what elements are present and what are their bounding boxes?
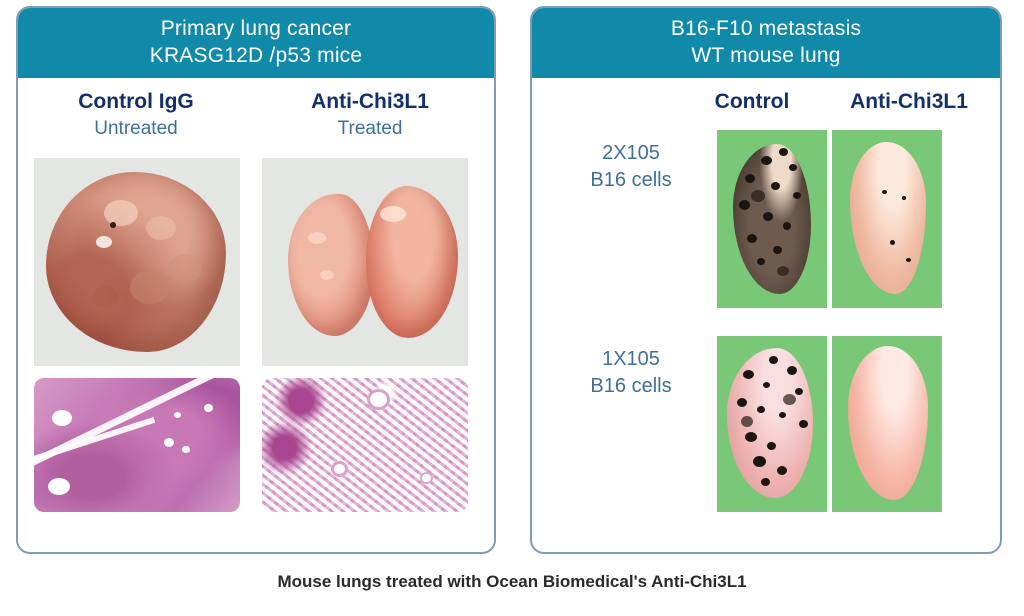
metastasis-nodule (741, 416, 753, 427)
gross-lung-untreated-photo (34, 158, 240, 366)
metastasis-nodule (799, 420, 808, 428)
b16-lung-treated-low-dose (848, 346, 928, 500)
metastasis-nodule (902, 196, 906, 200)
row-label-low-dose: 1X105 B16 cells (556, 346, 706, 400)
tumor-nodule (146, 216, 176, 240)
metastasis-nodule (777, 266, 789, 276)
left-panel-header: Primary lung cancer KRASG12D /p53 mice (18, 8, 494, 78)
airway-lumen (204, 404, 213, 412)
metastasis-nodule (757, 258, 765, 265)
metastasis-nodule (743, 370, 754, 379)
tumor-nodule (130, 270, 170, 304)
airway-lumen (52, 410, 72, 426)
left-header-line-2: KRASG12D /p53 mice (24, 42, 488, 69)
gross-lung-treated-photo (262, 158, 468, 366)
figure-caption: Mouse lungs treated with Ocean Biomedica… (0, 572, 1024, 592)
panel-b16-metastasis: B16-F10 metastasis WT mouse lung Control… (530, 6, 1002, 554)
right-col2-title: Anti-Chi3L1 (824, 90, 994, 114)
panel-primary-lung-cancer: Primary lung cancer KRASG12D /p53 mice C… (16, 6, 496, 554)
metastasis-nodule (747, 234, 757, 243)
airway-lumen (174, 412, 181, 418)
metastasis-nodule (763, 382, 770, 388)
metastasis-nodule (739, 200, 750, 210)
left-col1-title: Control IgG (26, 90, 246, 114)
right-col1-title: Control (682, 90, 822, 114)
metastasis-nodule (771, 182, 780, 190)
highlight-spot (308, 232, 326, 244)
right-panel-body: Control Anti-Chi3L1 2X105 B16 cells (532, 78, 1000, 554)
tumor-nodule (92, 286, 118, 308)
row-label-high-dose-line1: 2X105 (556, 140, 706, 167)
airway-lumen (182, 446, 190, 453)
metastasis-nodule (763, 212, 773, 221)
b16-lung-treated-high-dose (850, 142, 926, 294)
left-header-line-1: Primary lung cancer (24, 15, 488, 42)
highlight-spot (380, 206, 406, 222)
left-col2-subtitle: Treated (256, 118, 484, 140)
septum (34, 417, 155, 469)
metastasis-nodule (767, 442, 776, 450)
row-label-low-dose-line1: 1X105 (556, 346, 706, 373)
metastasis-nodule (745, 174, 755, 183)
metastasis-nodule (773, 246, 782, 254)
airway-lumen (370, 392, 387, 407)
metastasis-nodule (737, 398, 747, 407)
figure-root: Primary lung cancer KRASG12D /p53 mice C… (0, 0, 1024, 616)
histology-treated (262, 378, 468, 512)
metastasis-nodule (787, 366, 797, 375)
metastasis-nodule (761, 156, 772, 165)
metastasis-nodule (751, 190, 765, 202)
tumor-nodule (110, 222, 116, 228)
right-header-line-2: WT mouse lung (538, 42, 994, 69)
metastasis-nodule (779, 412, 786, 418)
right-header-line-1: B16-F10 metastasis (538, 15, 994, 42)
gross-lung-treated-left-lobe (288, 194, 374, 336)
tumor-nodule (96, 236, 112, 248)
row-label-high-dose-line2: B16 cells (556, 167, 706, 194)
airway-lumen (422, 474, 431, 482)
metastasis-nodule (890, 240, 895, 245)
tumor-nodule (168, 254, 202, 284)
airway-lumen (164, 438, 174, 447)
tumor-nodule (104, 200, 138, 226)
metastasis-nodule (795, 388, 803, 395)
left-panel-body: Control IgG Untreated Anti-Chi3L1 Treate… (18, 78, 494, 554)
airway-lumen (334, 464, 345, 474)
metastasis-nodule (761, 478, 770, 486)
metastasis-nodule (882, 190, 887, 194)
metastasis-nodule (783, 394, 796, 405)
metastasis-nodule (777, 466, 787, 475)
metastasis-nodule (757, 406, 765, 413)
metastasis-nodule (769, 356, 778, 364)
metastasis-nodule (783, 222, 791, 230)
left-col2-title: Anti-Chi3L1 (256, 90, 484, 114)
left-col1-subtitle: Untreated (26, 118, 246, 140)
right-panel-header: B16-F10 metastasis WT mouse lung (532, 8, 1000, 78)
histology-untreated (34, 378, 240, 512)
b16-lung-treated-high-dose-plate (832, 130, 942, 308)
highlight-spot (320, 270, 334, 280)
metastasis-nodule (753, 456, 766, 467)
b16-lung-treated-low-dose-plate (832, 336, 942, 512)
metastasis-nodule (779, 148, 788, 156)
airway-lumen (48, 478, 70, 495)
metastasis-nodule (745, 432, 757, 442)
metastasis-nodule (906, 258, 911, 262)
metastasis-nodule (789, 164, 797, 171)
gross-lung-treated-right-lobe (366, 186, 458, 338)
row-label-high-dose: 2X105 B16 cells (556, 140, 706, 194)
row-label-low-dose-line2: B16 cells (556, 373, 706, 400)
metastasis-nodule (793, 192, 801, 199)
b16-lung-control-low-dose-plate (717, 336, 827, 512)
b16-lung-control-high-dose-plate (717, 130, 827, 308)
